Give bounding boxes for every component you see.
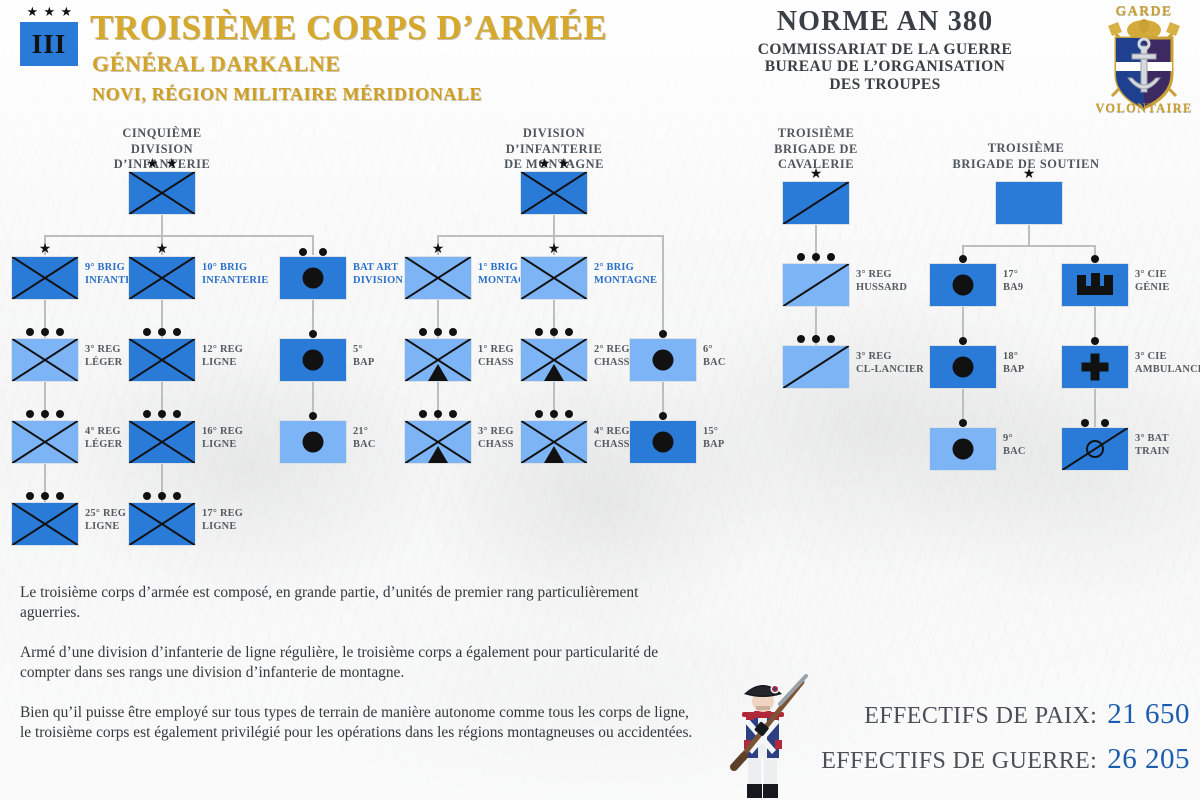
unit-symbol-infantry <box>11 256 79 300</box>
unit-18e-bap[interactable]: 18°BAP <box>929 345 997 389</box>
dot-icon <box>419 328 427 336</box>
unit-label: BAT ARTDIVISION <box>353 262 403 287</box>
echelon-marker-battalion <box>279 244 347 256</box>
unit-9e-bac[interactable]: 9°BAC <box>929 427 997 471</box>
dot-icon <box>1081 419 1089 427</box>
unit-symbol-infantry <box>11 502 79 546</box>
description-paragraph-1: Le troisième corps d’armée est composé, … <box>20 583 700 624</box>
dot-icon <box>1091 337 1099 345</box>
unit-division-infanterie-montagne[interactable]: ★ ★ <box>520 171 588 215</box>
dot-icon <box>173 410 181 418</box>
dot-icon <box>550 410 558 418</box>
description-paragraph-3: Bien qu’il puisse être employé sur tous … <box>20 703 700 744</box>
echelon-marker-division: ★ ★ <box>520 158 588 170</box>
unit-17e-reg-ligne[interactable]: 17° REGLIGNE <box>128 502 196 546</box>
echelon-marker-regiment <box>11 488 79 500</box>
echelon-marker-regiment <box>782 249 850 261</box>
echelon-marker-company <box>1061 333 1129 345</box>
unit-symbol-infantry <box>520 171 588 215</box>
dot-icon <box>26 328 34 336</box>
unit-label: 25° REGLIGNE <box>85 508 126 533</box>
dot-icon <box>812 335 820 343</box>
dot-icon <box>299 248 307 256</box>
echelon-marker-regiment <box>404 324 472 336</box>
unit-25e-reg-ligne[interactable]: 25° REGLIGNE <box>11 502 79 546</box>
unit-21e-bac[interactable]: 21°BAC <box>279 420 347 464</box>
unit-3e-cie-ambulance[interactable]: 3° CIEAMBULANCE <box>1061 345 1129 389</box>
unit-symbol-artillery <box>929 427 997 471</box>
unit-label: 3° BATTRAIN <box>1135 433 1170 458</box>
dot-icon <box>158 410 166 418</box>
unit-symbol-artillery <box>929 263 997 307</box>
echelon-marker-brigade: ★ <box>520 243 588 255</box>
unit-label: 10° BRIGINFANTERIE <box>202 262 268 287</box>
unit-label: 2° BRIGMONTAGNE <box>594 262 657 287</box>
medical-cross-icon <box>1082 354 1109 381</box>
unit-label: 2° REGCHASS <box>594 344 630 369</box>
echelon-marker-brigade: ★ <box>995 168 1063 180</box>
dot-icon <box>56 410 64 418</box>
unit-symbol-mountain-infantry <box>404 338 472 382</box>
star-icon: ★ <box>44 6 55 17</box>
dot-icon <box>565 328 573 336</box>
dot-icon <box>173 492 181 500</box>
train-circle-icon <box>1086 440 1104 458</box>
unit-15e-bap[interactable]: 15°BAP <box>629 420 697 464</box>
echelon-marker-brigade: ★ <box>404 243 472 255</box>
dot-icon <box>659 330 667 338</box>
dot-icon <box>535 410 543 418</box>
echelon-marker-division: ★ ★ <box>128 158 196 170</box>
corps-rank-stars: ★ ★ ★ <box>20 6 78 17</box>
dot-icon <box>827 335 835 343</box>
unit-label: 3° REGCL-LANCIER <box>856 351 924 376</box>
dot-icon <box>56 328 64 336</box>
dot-icon <box>959 255 967 263</box>
dot-icon <box>158 328 166 336</box>
unit-label: 3° REGHUSSARD <box>856 269 907 294</box>
unit-label: 15°BAP <box>703 426 724 451</box>
echelon-marker-battalion <box>1061 415 1129 427</box>
unit-3e-reg-chasseurs[interactable]: 3° REGCHASS <box>404 420 472 464</box>
dot-icon <box>143 410 151 418</box>
echelon-marker-brigade: ★ <box>128 243 196 255</box>
echelon-marker-regiment <box>11 406 79 418</box>
description-paragraph-2: Armé d’une division d’infanterie de lign… <box>20 643 700 684</box>
norme-line-3: DES TROUPES <box>700 76 1070 93</box>
unit-label: 4° REGCHASS <box>594 426 630 451</box>
mountain-triangle-icon <box>428 364 448 381</box>
unit-label: 21°BAC <box>353 426 376 451</box>
coat-of-arms-top-text: GARDE <box>1092 4 1196 20</box>
dot-icon <box>41 492 49 500</box>
unit-2e-reg-chasseurs[interactable]: 2° REGCHASS <box>520 338 588 382</box>
unit-symbol-artillery <box>629 420 697 464</box>
unit-symbol-cavalry <box>782 263 850 307</box>
mountain-triangle-icon <box>544 364 564 381</box>
corps-numeral: III <box>32 29 67 60</box>
star-icon: ★ <box>1023 170 1036 180</box>
dot-icon <box>449 410 457 418</box>
dot-icon <box>434 328 442 336</box>
dot-icon <box>550 328 558 336</box>
unit-symbol-infantry <box>11 338 79 382</box>
unit-symbol-infantry <box>128 420 196 464</box>
unit-symbol-support <box>995 181 1063 225</box>
unit-symbol-engineer <box>1061 263 1129 307</box>
norme-line-1: COMMISSARIAT DE LA GUERRE <box>700 41 1070 58</box>
unit-label: 5°BAP <box>353 344 374 369</box>
star-icon: ★ <box>538 160 551 170</box>
echelon-marker-company <box>1061 251 1129 263</box>
norme-block: NORME AN 380 COMMISSARIAT DE LA GUERRE B… <box>700 6 1070 93</box>
unit-6e-bac[interactable]: 6°BAC <box>629 338 697 382</box>
unit-10e-brigade-infanterie[interactable]: ★ 10° BRIGINFANTERIE <box>128 256 196 300</box>
unit-3e-reg-hussard[interactable]: 3° REGHUSSARD <box>782 263 850 307</box>
unit-16e-reg-ligne[interactable]: 16° REGLIGNE <box>128 420 196 464</box>
star-icon: ★ <box>558 160 571 170</box>
unit-12e-reg-ligne[interactable]: 12° REGLIGNE <box>128 338 196 382</box>
unit-label: 4° REGLÉGER <box>85 426 122 451</box>
unit-symbol-artillery <box>279 256 347 300</box>
dot-icon <box>797 253 805 261</box>
dot-icon <box>319 248 327 256</box>
unit-symbol-infantry <box>520 256 588 300</box>
organization-chart: CINQUIÈMEDIVISIOND’INFANTERIE DIVISIOND’… <box>0 118 1200 538</box>
unit-3e-reg-leger[interactable]: 3° REGLÉGER <box>11 338 79 382</box>
unit-label: 16° REGLIGNE <box>202 426 243 451</box>
dot-icon <box>26 410 34 418</box>
peacetime-strength-value: 21 650 <box>1107 698 1190 731</box>
unit-1re-brigade-montagne[interactable]: ★ 1° BRIGMONTAGNE <box>404 256 472 300</box>
dot-icon <box>1091 255 1099 263</box>
unit-label: 9°BAC <box>1003 433 1026 458</box>
echelon-marker-brigade: ★ <box>11 243 79 255</box>
dot-icon <box>535 328 543 336</box>
peacetime-strength-label: EFFECTIFS DE PAIX: <box>864 703 1097 730</box>
star-icon: ★ <box>27 6 38 17</box>
dot-icon <box>565 410 573 418</box>
echelon-marker-regiment <box>128 324 196 336</box>
dot-icon <box>419 410 427 418</box>
strength-statistics: EFFECTIFS DE PAIX: 21 650 EFFECTIFS DE G… <box>770 698 1190 788</box>
unit-symbol-cavalry <box>782 181 850 225</box>
unit-label: 17°BA9 <box>1003 269 1023 294</box>
star-icon: ★ <box>146 160 159 170</box>
page-title: TROISIÈME CORPS D’ARMÉE <box>90 8 607 48</box>
unit-17e-ba9[interactable]: 17°BA9 <box>929 263 997 307</box>
norme-line-2: BUREAU DE L’ORGANISATION <box>700 58 1070 75</box>
unit-5e-division-infanterie[interactable]: ★ ★ <box>128 171 196 215</box>
dot-icon <box>143 328 151 336</box>
echelon-marker-regiment <box>128 406 196 418</box>
unit-symbol-infantry <box>128 502 196 546</box>
echelon-marker-regiment <box>782 331 850 343</box>
echelon-marker-regiment <box>404 406 472 418</box>
column-heading-brigade-cavalerie: TROISIÈMEBRIGADE DECAVALERIE <box>746 126 886 173</box>
dot-icon <box>959 419 967 427</box>
unit-symbol-artillery <box>629 338 697 382</box>
dot-icon <box>812 253 820 261</box>
dot-icon <box>309 330 317 338</box>
unit-label: 6°BAC <box>703 344 726 369</box>
mountain-triangle-icon <box>428 446 448 463</box>
echelon-marker-battalion <box>629 408 697 420</box>
wartime-strength-value: 26 205 <box>1107 743 1190 776</box>
corps-badge: III <box>20 22 78 66</box>
unit-symbol-mountain-infantry <box>404 420 472 464</box>
norme-title: NORME AN 380 <box>700 6 1070 38</box>
connector <box>437 235 664 237</box>
dot-icon <box>41 410 49 418</box>
unit-symbol-infantry <box>128 338 196 382</box>
unit-3e-bat-train[interactable]: 3° BATTRAIN <box>1061 427 1129 471</box>
coat-of-arms-shield-icon <box>1092 4 1196 116</box>
unit-3e-brigade-soutien[interactable]: ★ <box>995 181 1063 225</box>
unit-3e-cie-genie[interactable]: 3° CIEGÉNIE <box>1061 263 1129 307</box>
unit-9e-brigade-infanterie[interactable]: ★ 9° BRIGINFANTERIE <box>11 256 79 300</box>
unit-label: 3° CIEAMBULANCE <box>1135 351 1200 376</box>
dot-icon <box>959 337 967 345</box>
unit-symbol-train <box>1061 427 1129 471</box>
coat-of-arms-bottom-text: VOLONTAIRE <box>1092 101 1196 116</box>
unit-5e-bap[interactable]: 5°BAP <box>279 338 347 382</box>
echelon-marker-battalion <box>929 415 997 427</box>
coat-of-arms: GARDE <box>1092 4 1196 116</box>
unit-symbol-artillery <box>279 338 347 382</box>
connector <box>662 235 664 337</box>
echelon-marker-regiment <box>128 488 196 500</box>
unit-label: 3° REGLÉGER <box>85 344 122 369</box>
star-icon: ★ <box>432 245 445 255</box>
dot-icon <box>827 253 835 261</box>
dot-icon <box>56 492 64 500</box>
connector <box>44 235 314 237</box>
echelon-marker-brigade: ★ <box>782 168 850 180</box>
wartime-strength-row: EFFECTIFS DE GUERRE: 26 205 <box>770 743 1190 776</box>
unit-3e-brigade-cavalerie[interactable]: ★ <box>782 181 850 225</box>
echelon-marker-regiment <box>520 406 588 418</box>
connector <box>553 215 555 237</box>
echelon-marker-regiment <box>520 324 588 336</box>
unit-symbol-infantry <box>128 171 196 215</box>
dot-icon <box>173 328 181 336</box>
description-block: Le troisième corps d’armée est composé, … <box>20 583 700 744</box>
unit-2e-brigade-montagne[interactable]: ★ 2° BRIGMONTAGNE <box>520 256 588 300</box>
unit-symbol-infantry <box>128 256 196 300</box>
unit-symbol-infantry <box>11 420 79 464</box>
orbat-sheet: ★ ★ ★ III TROISIÈME CORPS D’ARMÉE GÉNÉRA… <box>0 0 1200 800</box>
unit-1er-reg-chasseurs[interactable]: 1° REGCHASS <box>404 338 472 382</box>
unit-symbol-infantry <box>404 256 472 300</box>
header: ★ ★ ★ III TROISIÈME CORPS D’ARMÉE GÉNÉRA… <box>0 0 1200 120</box>
dot-icon <box>158 492 166 500</box>
star-icon: ★ <box>156 245 169 255</box>
unit-symbol-artillery <box>279 420 347 464</box>
dot-icon <box>434 410 442 418</box>
echelon-marker-battalion <box>279 326 347 338</box>
star-icon: ★ <box>61 6 72 17</box>
unit-symbol-medical <box>1061 345 1129 389</box>
connector <box>1028 225 1030 247</box>
dot-icon <box>309 412 317 420</box>
echelon-marker-regiment <box>11 324 79 336</box>
echelon-marker-battalion <box>929 333 997 345</box>
unit-label: 18°BAP <box>1003 351 1024 376</box>
connector <box>962 245 1094 247</box>
peacetime-strength-row: EFFECTIFS DE PAIX: 21 650 <box>770 698 1190 731</box>
dot-icon <box>26 492 34 500</box>
echelon-marker-battalion <box>629 326 697 338</box>
dot-icon <box>1101 419 1109 427</box>
unit-label: 17° REGLIGNE <box>202 508 243 533</box>
echelon-marker-battalion <box>279 408 347 420</box>
dot-icon <box>41 328 49 336</box>
unit-label: 12° REGLIGNE <box>202 344 243 369</box>
unit-symbol-artillery <box>929 345 997 389</box>
garrison-location: NOVI, RÉGION MILITAIRE MÉRIDIONALE <box>92 84 482 105</box>
dot-icon <box>143 492 151 500</box>
dot-icon <box>449 328 457 336</box>
unit-3e-reg-cl-lancier[interactable]: 3° REGCL-LANCIER <box>782 345 850 389</box>
unit-symbol-mountain-infantry <box>520 420 588 464</box>
unit-4e-reg-leger[interactable]: 4° REGLÉGER <box>11 420 79 464</box>
star-icon: ★ <box>548 245 561 255</box>
echelon-marker-battalion <box>929 251 997 263</box>
commander-name: GÉNÉRAL DARKALNE <box>92 51 341 77</box>
star-icon: ★ <box>810 170 823 180</box>
dot-icon <box>797 335 805 343</box>
unit-4e-reg-chasseurs[interactable]: 4° REGCHASS <box>520 420 588 464</box>
unit-label: 3° CIEGÉNIE <box>1135 269 1170 294</box>
unit-bat-art-division[interactable]: BAT ARTDIVISION <box>279 256 347 300</box>
wartime-strength-label: EFFECTIFS DE GUERRE: <box>821 748 1097 775</box>
engineer-wall-icon <box>1077 275 1113 295</box>
star-icon: ★ <box>166 160 179 170</box>
unit-label: 1° REGCHASS <box>478 344 514 369</box>
unit-symbol-mountain-infantry <box>520 338 588 382</box>
mountain-triangle-icon <box>544 446 564 463</box>
unit-symbol-cavalry <box>782 345 850 389</box>
unit-label: 3° REGCHASS <box>478 426 514 451</box>
connector <box>161 215 163 237</box>
star-icon: ★ <box>39 245 52 255</box>
dot-icon <box>659 412 667 420</box>
